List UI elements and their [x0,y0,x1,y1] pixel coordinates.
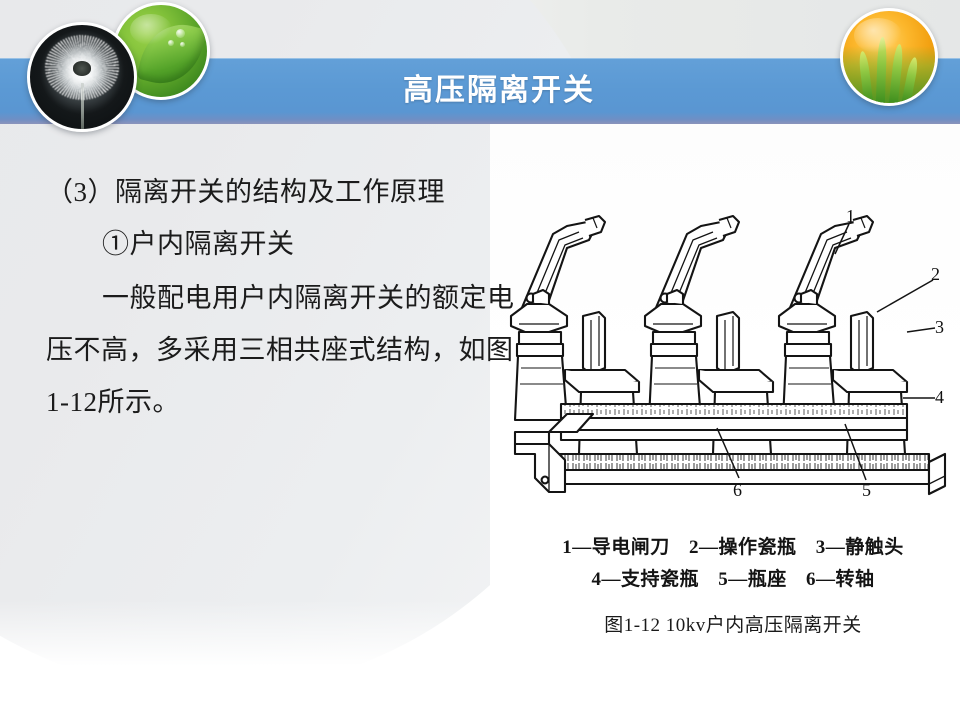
figure-legend: 1—导电闸刀 2—操作瓷瓶 3—静触头 4—支持瓷瓶 5—瓶座 6—转轴 [513,532,953,596]
legend-item-3: 3—静触头 [816,537,904,558]
slide: 高压隔离开关 （3）隔离开关的结构及工作原理 ①户内隔离开关 一般配电用户内隔离… [0,0,960,720]
tulip-highlight [854,18,902,53]
body-text: （3）隔离开关的结构及工作原理 ①户内隔离开关 一般配电用户内隔离开关的额定电压… [46,166,546,428]
callout-6: 6 [733,480,742,501]
legend-row-2: 4—支持瓷瓶 5—瓶座 6—转轴 [513,564,953,596]
legend-row-1: 1—导电闸刀 2—操作瓷瓶 3—静触头 [513,532,953,564]
legend-item-5: 5—瓶座 [718,569,787,590]
legend-item-6: 6—转轴 [806,569,875,590]
callout-1: 1 [846,206,855,227]
callout-4: 4 [935,387,944,408]
legend-item-4: 4—支持瓷瓶 [591,569,699,590]
content-paragraph: 一般配电用户内隔离开关的额定电压不高，多采用三相共座式结构，如图1-12所示。 [46,272,516,428]
figure-disconnect-switch: 1 2 3 4 5 6 1—导电闸刀 2—操作瓷瓶 3—静触头 4—支持瓷瓶 5… [505,192,953,632]
legend-item-2: 2—操作瓷瓶 [689,537,797,558]
dew-drop-icon [176,29,185,38]
callout-5: 5 [862,480,871,501]
callout-2: 2 [931,264,940,285]
tulip-photo-badge [840,8,938,106]
figure-caption: 图1-12 10kv户内高压隔离开关 [513,610,953,637]
dandelion-core [73,61,92,76]
dandelion-photo-badge [27,22,137,132]
disconnect-switch-diagram [505,192,953,522]
content-heading: （3）隔离开关的结构及工作原理 [46,166,546,218]
legend-item-1: 1—导电闸刀 [562,537,670,558]
callout-3: 3 [935,317,944,338]
content-subheading: ①户内隔离开关 [46,218,546,270]
